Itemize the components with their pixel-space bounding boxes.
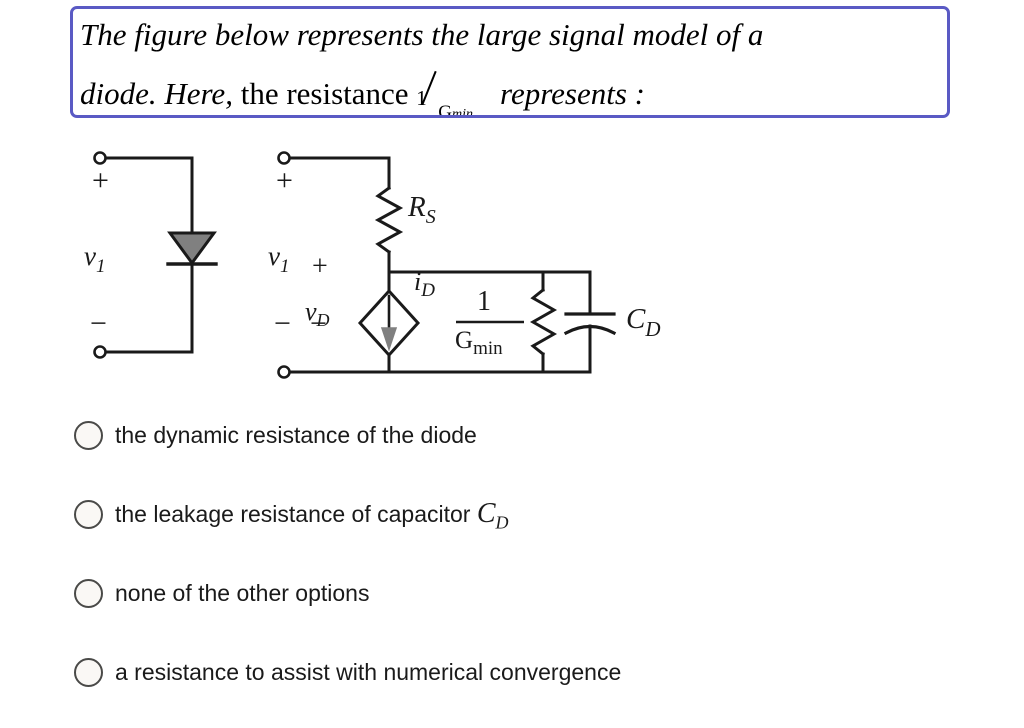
question-line2-part1: diode. Here, [80, 76, 241, 111]
option-symbol-1: CD [477, 498, 509, 529]
right-voltage-v1-label: v1 [268, 241, 289, 277]
option-text-2: none of the other options [115, 580, 369, 606]
gmin-fraction-numerator: 1 [477, 286, 491, 317]
left-circuit-bottom-terminal [95, 347, 106, 358]
option-label-3: a resistance to assist with numerical co… [115, 649, 621, 695]
left-circuit-top-wire [106, 158, 192, 235]
option-text-3: a resistance to assist with numerical co… [115, 659, 621, 685]
circuit-figure: + v1 − + v1 − + vD − RS iD 1 Gmin [0, 130, 1024, 380]
left-terminal-plus-label: + [92, 164, 109, 197]
fraction-denominator-sub: min [452, 107, 473, 118]
vd-minus-label: − [310, 307, 327, 340]
question-prompt-box: The figure below represents the large si… [70, 6, 950, 118]
diode-triangle-icon [170, 233, 214, 263]
option-symbol-sub-1: D [496, 513, 509, 533]
right-terminal-plus-label: + [276, 164, 293, 197]
question-line1: The figure below represents the large si… [80, 17, 763, 52]
right-circuit-top-terminal [279, 153, 290, 164]
right-circuit-top-wire [290, 158, 389, 188]
left-terminal-minus-label: − [90, 307, 107, 340]
gmin-resistor-icon [533, 290, 554, 354]
fraction-denominator-base: G [438, 102, 452, 118]
option-text-0: the dynamic resistance of the diode [115, 422, 477, 448]
left-voltage-v1-label: v1 [84, 241, 105, 277]
option-label-2: none of the other options [115, 570, 369, 616]
option-row-3[interactable]: a resistance to assist with numerical co… [74, 649, 974, 728]
option-row-0[interactable]: the dynamic resistance of the diode [74, 412, 974, 491]
left-circuit-bottom-wire [106, 265, 192, 352]
radio-button-1[interactable] [74, 500, 103, 529]
option-label-0: the dynamic resistance of the diode [115, 412, 477, 458]
option-row-2[interactable]: none of the other options [74, 570, 974, 649]
right-circuit-bottom-terminal [279, 367, 290, 378]
inline-fraction-one-over-gmin: 1Gmin [416, 79, 492, 113]
radio-button-0[interactable] [74, 421, 103, 450]
option-text-1: the leakage resistance of capacitor [115, 501, 477, 527]
question-line2-part2: represents : [500, 76, 645, 111]
option-label-1: the leakage resistance of capacitor CD [115, 491, 509, 546]
left-circuit-top-terminal [95, 153, 106, 164]
cd-label: CD [626, 303, 661, 341]
gmin-fraction-denominator: Gmin [455, 327, 503, 359]
fraction-denominator: Gmin [438, 83, 473, 118]
option-symbol-base-1: C [477, 498, 496, 529]
vd-plus-label: + [312, 251, 328, 282]
radio-button-3[interactable] [74, 658, 103, 687]
rs-label: RS [407, 191, 436, 228]
series-resistor-rs-icon [378, 188, 400, 252]
question-line2-resistance: the resistance [241, 76, 409, 111]
right-terminal-minus-label: − [274, 307, 291, 340]
radio-button-2[interactable] [74, 579, 103, 608]
question-text: The figure below represents the large si… [80, 6, 950, 118]
option-row-1[interactable]: the leakage resistance of capacitor CD [74, 491, 974, 570]
answer-options-list: the dynamic resistance of the diode the … [74, 412, 974, 728]
